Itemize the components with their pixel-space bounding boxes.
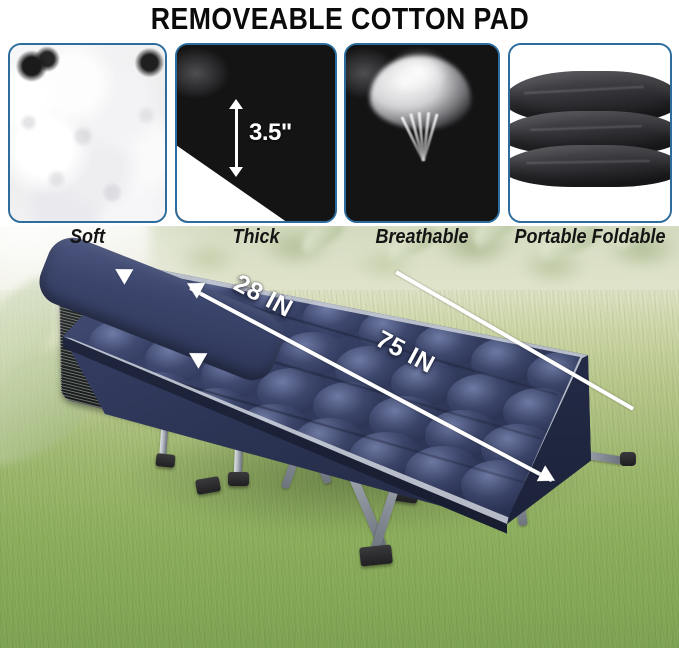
- caption-thick: Thick: [183, 226, 329, 249]
- caption-soft: Soft: [16, 226, 159, 249]
- feature-panel-portable-foldable[interactable]: [508, 43, 672, 223]
- caption-breathable: Breathable: [352, 226, 492, 249]
- thickness-measurement-label: 3.5": [249, 119, 292, 147]
- caption-portable-foldable: Portable Foldable: [513, 226, 668, 249]
- feature-panel-thick[interactable]: 3.5": [175, 43, 337, 223]
- product-infographic: 28 IN 75 IN: [0, 0, 679, 648]
- page-title: REMOVEABLE COTTON PAD: [150, 0, 528, 35]
- feature-panel-soft[interactable]: [8, 43, 167, 223]
- cotton-fiber-icon: [10, 45, 165, 221]
- feature-panel-breathable[interactable]: [344, 43, 500, 223]
- feature-captions: Soft Thick Breathable Portable Foldable: [0, 226, 679, 256]
- title-bar: REMOVEABLE COTTON PAD: [0, 0, 679, 40]
- folded-pad-icon: [510, 45, 670, 221]
